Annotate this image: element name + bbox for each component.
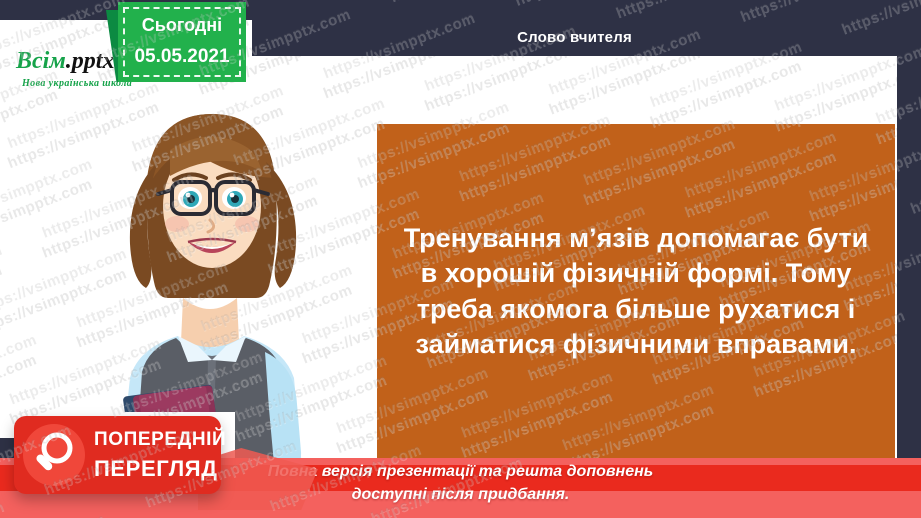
date-badge-label: Сьогодні [118, 15, 246, 36]
watermark-text: https://vsimpptx.com [648, 58, 804, 132]
logo-subtitle: Нова українська школа [22, 78, 132, 89]
preview-badge-line-1: ПОПЕРЕДНІЙ [94, 427, 216, 454]
date-badge: Сьогодні 05.05.2021 [118, 2, 246, 82]
watermark-text: https://vsimpptx.com [547, 45, 703, 119]
footer-line-1: Повна версія презентації та решта доповн… [268, 463, 654, 480]
slide-preview-stage: Тренування м’язів допомагає бути в хорош… [0, 0, 921, 518]
logo-title: Всім.pptx [16, 48, 114, 75]
watermark-text: https://vsimpptx.com [0, 262, 5, 336]
preview-badge-line-2: ПЕРЕГЛЯД [94, 454, 216, 485]
logo-title-second: .pptx [66, 48, 115, 74]
frame-right [897, 0, 921, 518]
preview-badge-text: ПОПЕРЕДНІЙ ПЕРЕГЛЯД [94, 427, 216, 484]
preview-badge[interactable]: ПОПЕРЕДНІЙ ПЕРЕГЛЯД [14, 416, 221, 494]
title-bar: Слово вчителя [252, 18, 897, 56]
content-paragraph: Тренування м’язів допомагає бути в хорош… [401, 221, 871, 361]
logo-title-first: Всім [16, 48, 66, 74]
magnifier-icon [23, 424, 85, 486]
title-bar-label: Слово вчителя [517, 29, 632, 46]
date-badge-body: Сьогодні 05.05.2021 [118, 2, 246, 82]
content-orange-box: Тренування м’язів допомагає бути в хорош… [377, 124, 895, 459]
date-badge-date: 05.05.2021 [118, 46, 246, 68]
